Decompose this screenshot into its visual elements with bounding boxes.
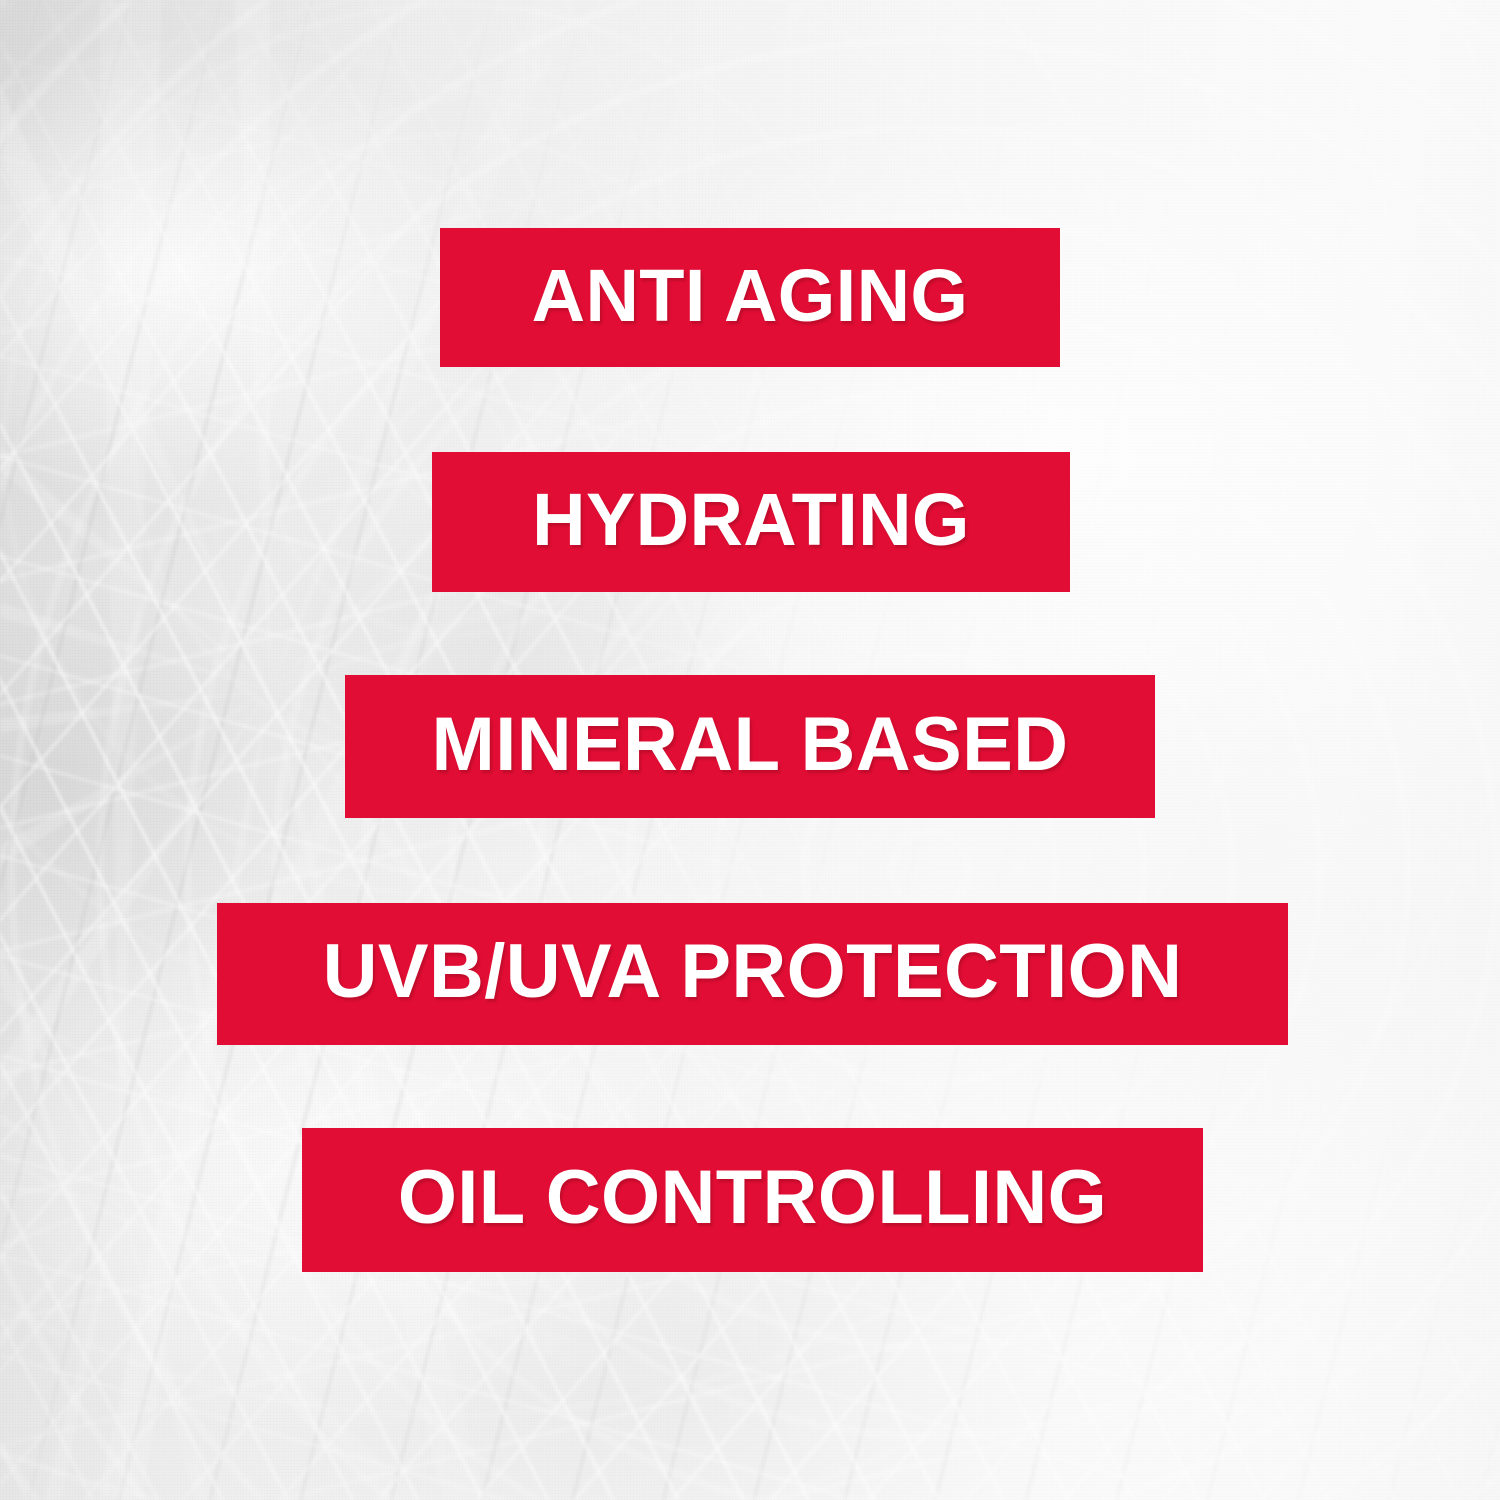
benefit-banner-anti-aging: ANTI AGING — [440, 228, 1060, 367]
benefit-label-mineral-based: MINERAL BASED — [432, 707, 1069, 783]
benefit-label-uvb-uva-protection: UVB/UVA PROTECTION — [323, 934, 1183, 1010]
benefit-label-anti-aging: ANTI AGING — [532, 259, 969, 333]
benefit-label-oil-controlling: OIL CONTROLLING — [398, 1160, 1107, 1236]
product-benefits-graphic: ANTI AGING HYDRATING MINERAL BASED UVB/U… — [0, 0, 1500, 1500]
benefit-banner-mineral-based: MINERAL BASED — [345, 675, 1155, 818]
benefit-label-hydrating: HYDRATING — [532, 483, 970, 557]
benefit-banner-uvb-uva-protection: UVB/UVA PROTECTION — [217, 903, 1288, 1045]
benefit-banner-oil-controlling: OIL CONTROLLING — [302, 1128, 1203, 1272]
benefit-banner-hydrating: HYDRATING — [432, 452, 1070, 592]
